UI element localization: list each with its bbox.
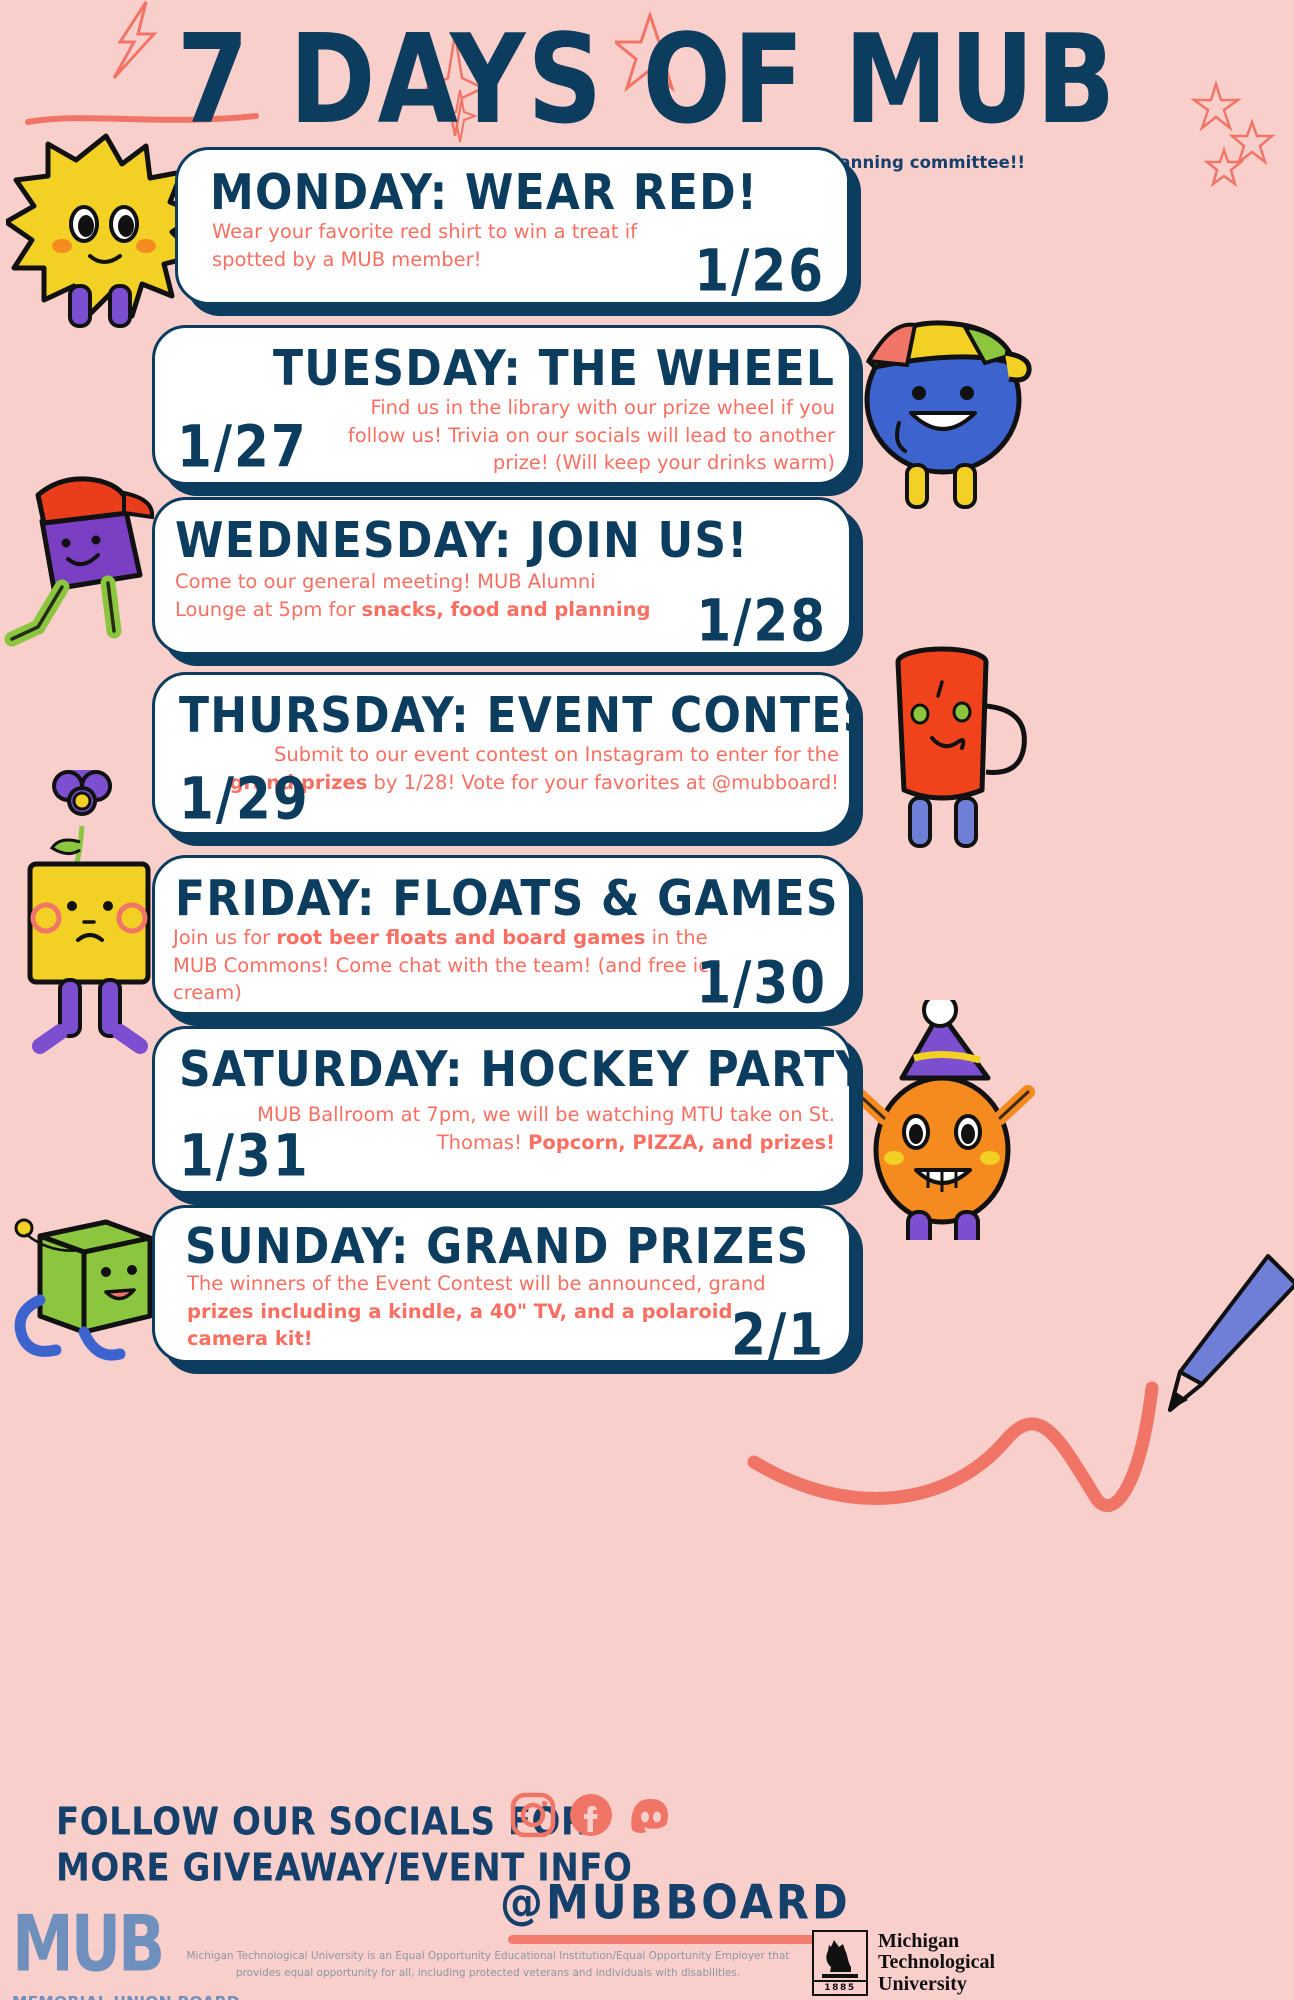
green-box-character	[10, 1200, 175, 1380]
mtu-name-line-3: University	[878, 1974, 995, 1996]
blueberry-character	[845, 305, 1035, 510]
instagram-icon[interactable]	[510, 1792, 556, 1838]
handle-underline-decoration	[508, 1935, 838, 1944]
card-date-thursday: 1/29	[179, 766, 310, 833]
card-body-friday: Join us for root beer floats and board g…	[173, 924, 743, 1007]
card-body-thursday: Submit to our event contest on Instagram…	[229, 741, 839, 796]
michigan-tech-logo: 1885 Michigan Technological University	[812, 1930, 995, 1996]
michigan-tech-year: 1885	[814, 1980, 866, 1994]
card-date-friday: 1/30	[696, 950, 827, 1015]
red-cup-character	[862, 640, 1042, 855]
page-title: 7 DAYS OF MUB	[0, 16, 1294, 145]
discord-icon[interactable]	[626, 1792, 676, 1838]
card-date-sunday: 2/1	[731, 1302, 825, 1363]
card-title-monday: MONDAY: WEAR RED!	[210, 164, 758, 221]
social-icons-row	[510, 1792, 676, 1838]
michigan-tech-wordmark: Michigan Technological University	[878, 1931, 995, 1996]
michigan-tech-seal: 1885	[812, 1930, 868, 1996]
day-card-tuesday: TUESDAY: THE WHEEL Find us in the librar…	[152, 325, 852, 485]
day-card-saturday: SATURDAY: HOCKEY PARTY MUB Ballroom at 7…	[152, 1026, 852, 1194]
day-card-friday: FRIDAY: FLOATS & GAMES Join us for root …	[152, 855, 852, 1015]
card-title-thursday: THURSDAY: EVENT CONTEST	[179, 687, 852, 744]
card-body-sunday: The winners of the Event Contest will be…	[187, 1270, 807, 1353]
husky-icon	[818, 1934, 862, 1980]
red-squiggle-decoration	[740, 1370, 1160, 1530]
card-title-tuesday: TUESDAY: THE WHEEL	[273, 340, 835, 397]
pencil-decoration	[1150, 1250, 1294, 1430]
social-handle[interactable]: @MUBBOARD	[500, 1876, 851, 1931]
day-card-thursday: THURSDAY: EVENT CONTEST Submit to our ev…	[152, 672, 852, 835]
card-title-sunday: SUNDAY: GRAND PRIZES	[185, 1218, 809, 1275]
poster-canvas: 7 DAYS OF MUB A week of prizes, events, …	[0, 0, 1294, 2000]
card-title-saturday: SATURDAY: HOCKEY PARTY	[179, 1041, 852, 1098]
card-body-tuesday: Find us in the library with our prize wh…	[315, 394, 835, 477]
card-date-saturday: 1/31	[179, 1123, 310, 1190]
card-title-wednesday: WEDNESDAY: JOIN US!	[175, 512, 749, 569]
mtu-name-line-1: Michigan	[878, 1931, 995, 1953]
eeo-statement: Michigan Technological University is an …	[178, 1948, 798, 1983]
day-card-monday: MONDAY: WEAR RED! Wear your favorite red…	[175, 147, 850, 305]
day-card-wednesday: WEDNESDAY: JOIN US! Come to our general …	[152, 497, 852, 655]
card-title-friday: FRIDAY: FLOATS & GAMES	[175, 870, 839, 927]
card-body-monday: Wear your favorite red shirt to win a tr…	[212, 218, 682, 273]
card-date-wednesday: 1/28	[696, 588, 827, 655]
facebook-icon[interactable]	[568, 1792, 614, 1838]
purple-box-character	[4, 455, 164, 650]
card-date-monday: 1/26	[694, 238, 825, 305]
mub-logo-subtitle: MEMORIAL UNION BOARD	[12, 1993, 240, 2000]
card-body-wednesday: Come to our general meeting! MUB Alumni …	[175, 568, 665, 623]
day-card-sunday: SUNDAY: GRAND PRIZES The winners of the …	[152, 1205, 852, 1363]
mtu-name-line-2: Technological	[878, 1952, 995, 1974]
yellow-flower-box-character	[10, 770, 170, 1060]
orange-party-character	[840, 1000, 1045, 1240]
card-date-tuesday: 1/27	[177, 414, 308, 481]
